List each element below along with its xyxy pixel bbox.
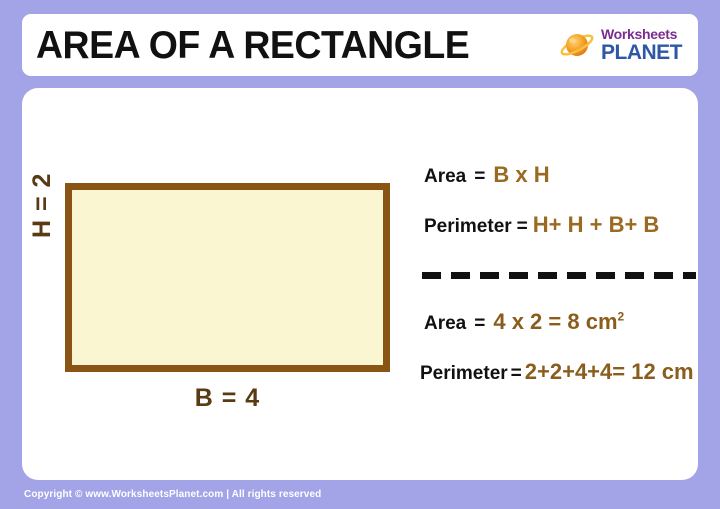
area-formula-label: Area [424, 167, 466, 186]
perimeter-calculation-value: 2+2+4+4= 12 cm [525, 361, 694, 383]
area-calculation-label: Area [424, 314, 466, 333]
area-formula-equals: = [474, 167, 485, 186]
logo-bottom-word: PLANET [601, 42, 682, 63]
area-formula-value: B x H [493, 164, 549, 186]
perimeter-formula-row: Perimeter = H+ H + B+ B [424, 214, 659, 236]
perimeter-calculation-equals: = [511, 364, 522, 383]
planet-icon [558, 28, 596, 62]
copyright-text: Copyright © www.WorksheetsPlanet.com | A… [24, 489, 321, 500]
area-calculation-value: 4 x 2 = 8 cm2 [493, 311, 624, 333]
logo-top-word: Worksheets [601, 27, 682, 41]
area-calculation-expression: 4 x 2 = 8 cm [493, 309, 617, 334]
base-label: B = 4 [65, 384, 390, 413]
page-title: AREA OF A RECTANGLE [36, 26, 469, 65]
perimeter-formula-value: H+ H + B+ B [533, 214, 660, 236]
area-calculation-row: Area = 4 x 2 = 8 cm2 [424, 311, 624, 333]
perimeter-formula-label: Perimeter [424, 217, 512, 236]
area-unit-exponent: 2 [618, 310, 625, 324]
area-calculation-equals: = [474, 314, 485, 333]
main-content-card: H = 2 B = 4 Area = B x H Perimeter = H+ … [22, 88, 698, 480]
formula-panel: Area = B x H Perimeter = H+ H + B+ B Are… [400, 88, 698, 480]
perimeter-formula-equals: = [517, 217, 528, 236]
rectangle-diagram: H = 2 B = 4 [22, 88, 402, 480]
perimeter-calculation-label: Perimeter [420, 364, 508, 383]
logo-wordmark: Worksheets PLANET [601, 27, 682, 63]
rectangle-shape [65, 183, 390, 372]
area-formula-row: Area = B x H [424, 164, 550, 186]
perimeter-calculation-row: Perimeter = 2+2+4+4= 12 cm [420, 361, 694, 383]
header-card: AREA OF A RECTANGLE Worksheets PLANET [22, 14, 698, 76]
dashed-divider [422, 272, 696, 279]
height-label: H = 2 [28, 173, 57, 238]
footer-bar: Copyright © www.WorksheetsPlanet.com | A… [0, 480, 720, 509]
brand-logo[interactable]: Worksheets PLANET [558, 27, 682, 63]
